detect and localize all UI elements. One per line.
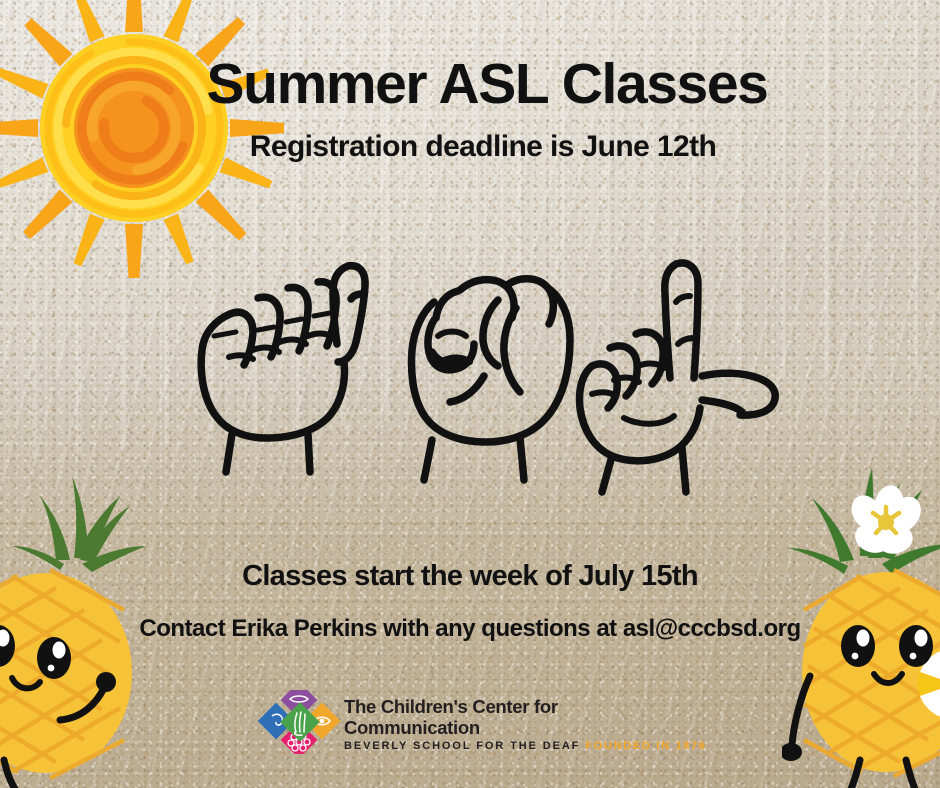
logo-diamond-marks bbox=[258, 690, 340, 754]
pineapple-character-right bbox=[782, 460, 940, 788]
asl-classes-poster: Summer ASL Classes Registration deadline… bbox=[0, 0, 940, 788]
page-title: Summer ASL Classes bbox=[0, 56, 940, 113]
logo-school-name: BEVERLY SCHOOL FOR THE DEAF bbox=[344, 740, 580, 752]
logo-org-name: The Children's Center for Communication bbox=[344, 696, 696, 739]
logo-sub-name: BEVERLY SCHOOL FOR THE DEAF FOUNDED IN 1… bbox=[344, 739, 696, 753]
organization-logo: The Children's Center for Communication … bbox=[258, 690, 698, 756]
registration-deadline-text: Registration deadline is June 12th bbox=[0, 130, 940, 164]
logo-founded-text: FOUNDED IN 1876 bbox=[585, 740, 706, 752]
pineapple-character-left bbox=[0, 468, 168, 788]
logo-wordmark: The Children's Center for Communication … bbox=[344, 696, 696, 753]
